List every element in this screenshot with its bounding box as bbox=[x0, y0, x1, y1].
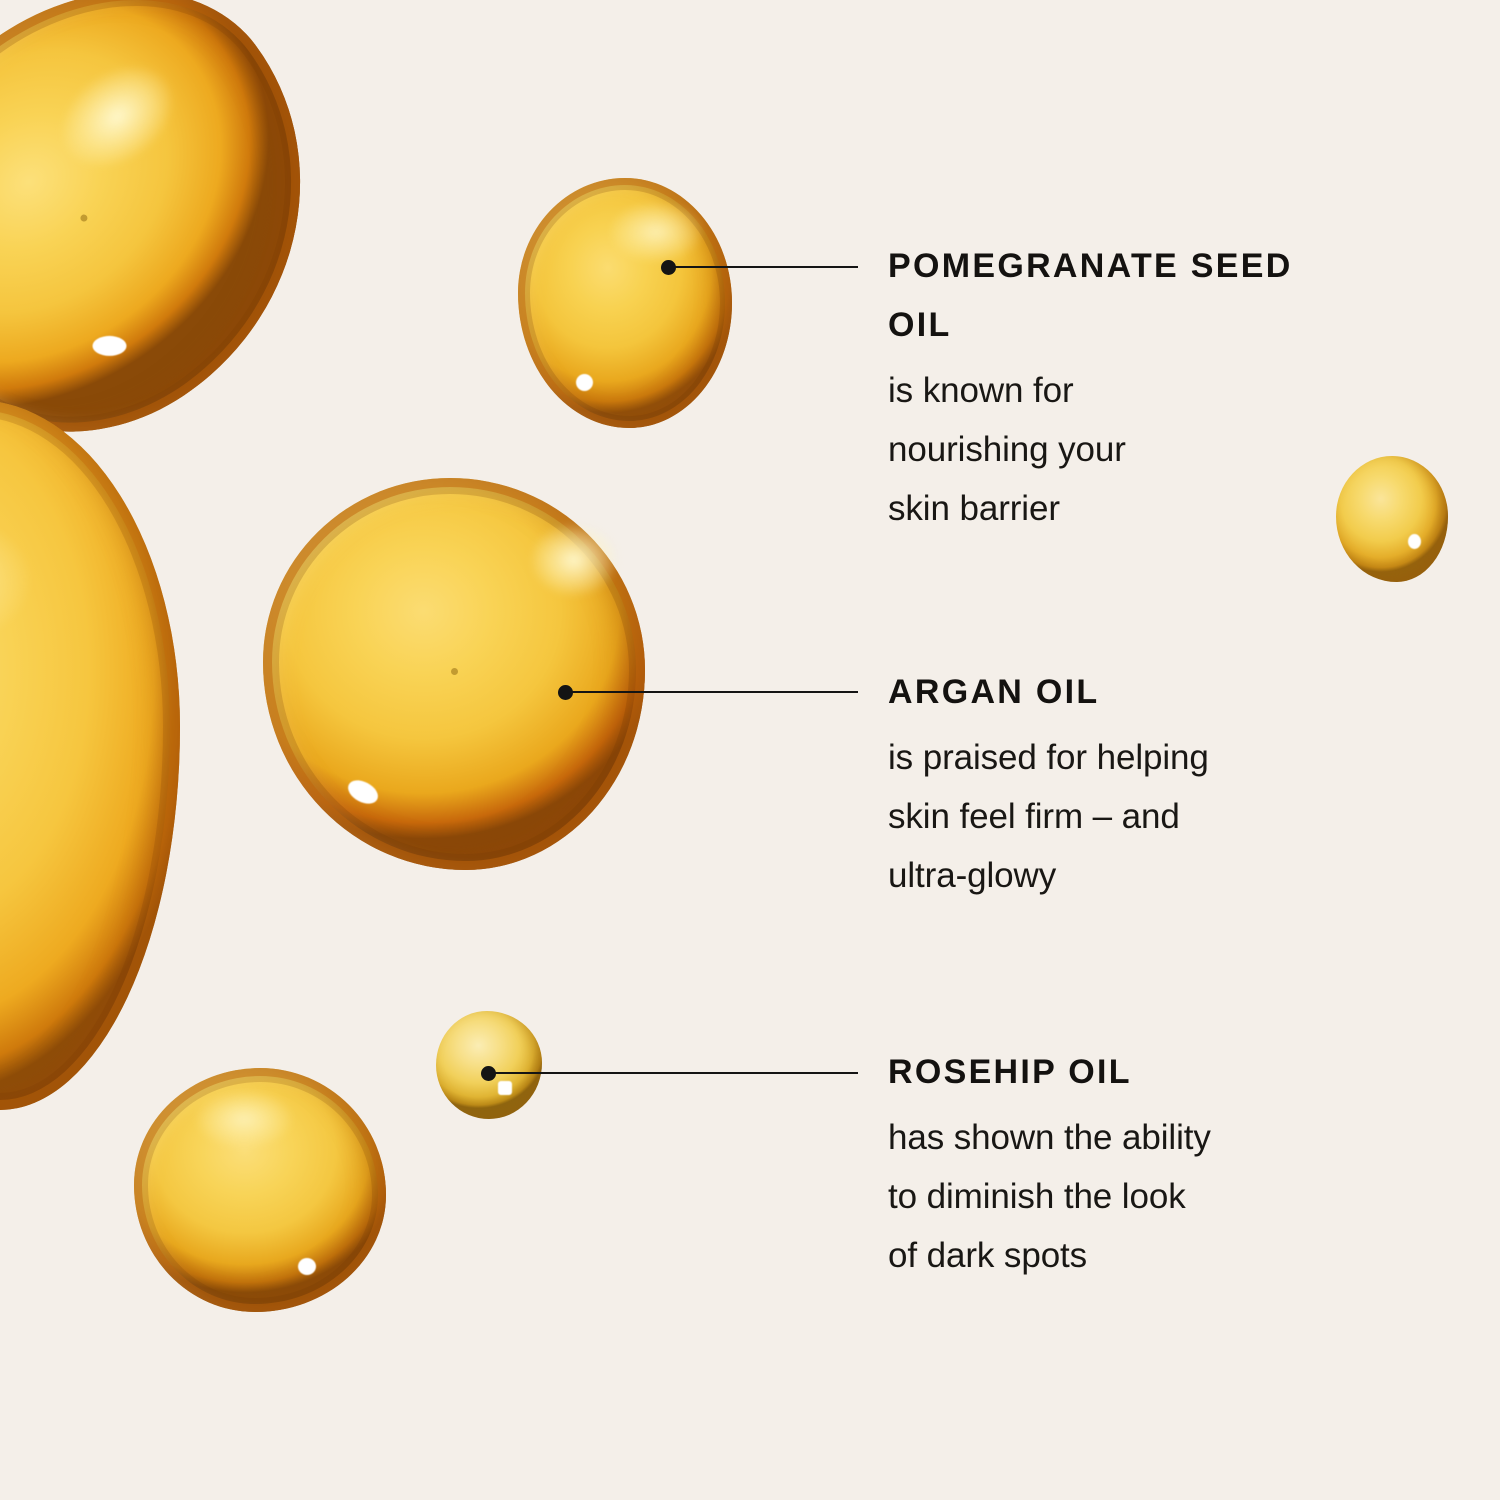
callout-body-line-2: skin feel firm – and bbox=[888, 787, 1358, 846]
callout-body-line-3: of dark spots bbox=[888, 1226, 1358, 1285]
callout-body: has shown the ability to diminish the lo… bbox=[888, 1108, 1358, 1285]
leader-stroke bbox=[668, 266, 858, 268]
callout-body-line-2: nourishing your bbox=[888, 420, 1358, 479]
bottom-left-droplet bbox=[134, 1068, 386, 1312]
droplet-speck bbox=[451, 668, 458, 675]
droplet-rim bbox=[0, 400, 180, 1110]
droplet-soft-highlight bbox=[196, 1090, 292, 1148]
pomegranate-droplet bbox=[518, 178, 732, 428]
leader-line-rosehip bbox=[488, 1064, 858, 1082]
droplet-glint bbox=[576, 374, 593, 391]
leader-stroke bbox=[565, 691, 858, 693]
ingredient-infographic: POMEGRANATE SEED OIL is known for nouris… bbox=[0, 0, 1500, 1500]
argan-droplet bbox=[263, 478, 645, 870]
droplet-soft-highlight bbox=[531, 524, 617, 596]
callout-body-line-3: ultra-glowy bbox=[888, 846, 1358, 905]
callout-heading: POMEGRANATE SEED OIL bbox=[888, 237, 1358, 355]
callout-body: is praised for helping skin feel firm – … bbox=[888, 728, 1358, 905]
callout-body-line-3: skin barrier bbox=[888, 479, 1358, 538]
callout-heading: ROSEHIP OIL bbox=[888, 1043, 1358, 1102]
callout-pomegranate-seed-oil: POMEGRANATE SEED OIL is known for nouris… bbox=[888, 237, 1358, 538]
callout-body-line-1: has shown the ability bbox=[888, 1108, 1358, 1167]
leader-line-argan bbox=[565, 683, 858, 701]
callout-argan-oil: ARGAN OIL is praised for helping skin fe… bbox=[888, 663, 1358, 905]
callout-body-line-2: to diminish the look bbox=[888, 1167, 1358, 1226]
callout-heading-line-1: ARGAN OIL bbox=[888, 673, 1099, 711]
droplet-glint bbox=[498, 1081, 512, 1095]
leader-line-pomegranate bbox=[668, 258, 858, 276]
callout-rosehip-oil: ROSEHIP OIL has shown the ability to dim… bbox=[888, 1043, 1358, 1285]
droplet-glint bbox=[1408, 534, 1421, 549]
leader-stroke bbox=[488, 1072, 858, 1074]
callout-heading: ARGAN OIL bbox=[888, 663, 1358, 722]
callout-body-line-1: is known for bbox=[888, 361, 1358, 420]
callout-body-line-1: is praised for helping bbox=[888, 728, 1358, 787]
droplet-glint bbox=[298, 1258, 316, 1275]
callout-body: is known for nourishing your skin barrie… bbox=[888, 361, 1358, 538]
droplet-glint bbox=[93, 336, 127, 356]
droplet-soft-highlight bbox=[610, 202, 702, 262]
callout-heading-line-1: POMEGRANATE bbox=[888, 247, 1179, 285]
callout-heading-line-1: ROSEHIP OIL bbox=[888, 1053, 1132, 1091]
large-left-droplet bbox=[0, 400, 180, 1110]
